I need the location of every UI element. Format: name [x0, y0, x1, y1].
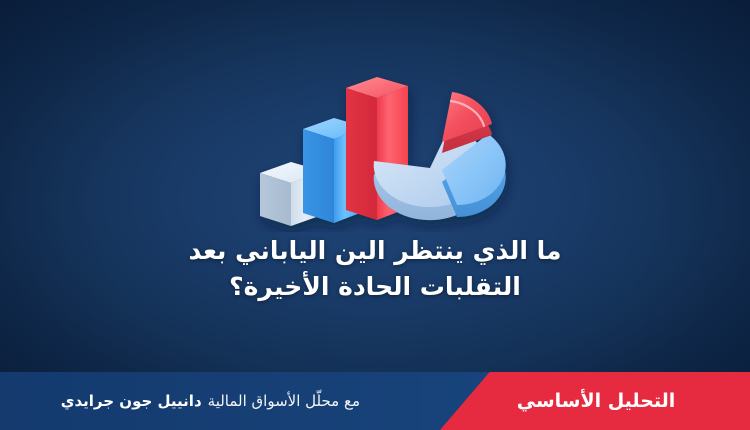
byline-author-name[interactable]: دانييل جون جرايدي [61, 392, 202, 410]
page-title: ما الذي ينتظر الين الياباني بعد التقلبات… [0, 233, 750, 304]
headline-line-1: ما الذي ينتظر الين الياباني بعد [120, 233, 630, 269]
byline-prefix: مع محلّل الأسواق المالية [208, 392, 360, 410]
3d-chart-illustration [244, 52, 524, 232]
byline: مع محلّل الأسواق المالية دانييل جون جراي… [61, 372, 360, 430]
article-thumbnail-card: ما الذي ينتظر الين الياباني بعد التقلبات… [0, 0, 750, 430]
category-label: التحليل الأساسي [517, 390, 676, 412]
status-badge[interactable]: التحليل الأساسي [450, 372, 750, 430]
footer-bar: التحليل الأساسي مع محلّل الأسواق المالية… [0, 372, 750, 430]
headline-line-2: التقلبات الحادة الأخيرة؟ [120, 269, 630, 305]
